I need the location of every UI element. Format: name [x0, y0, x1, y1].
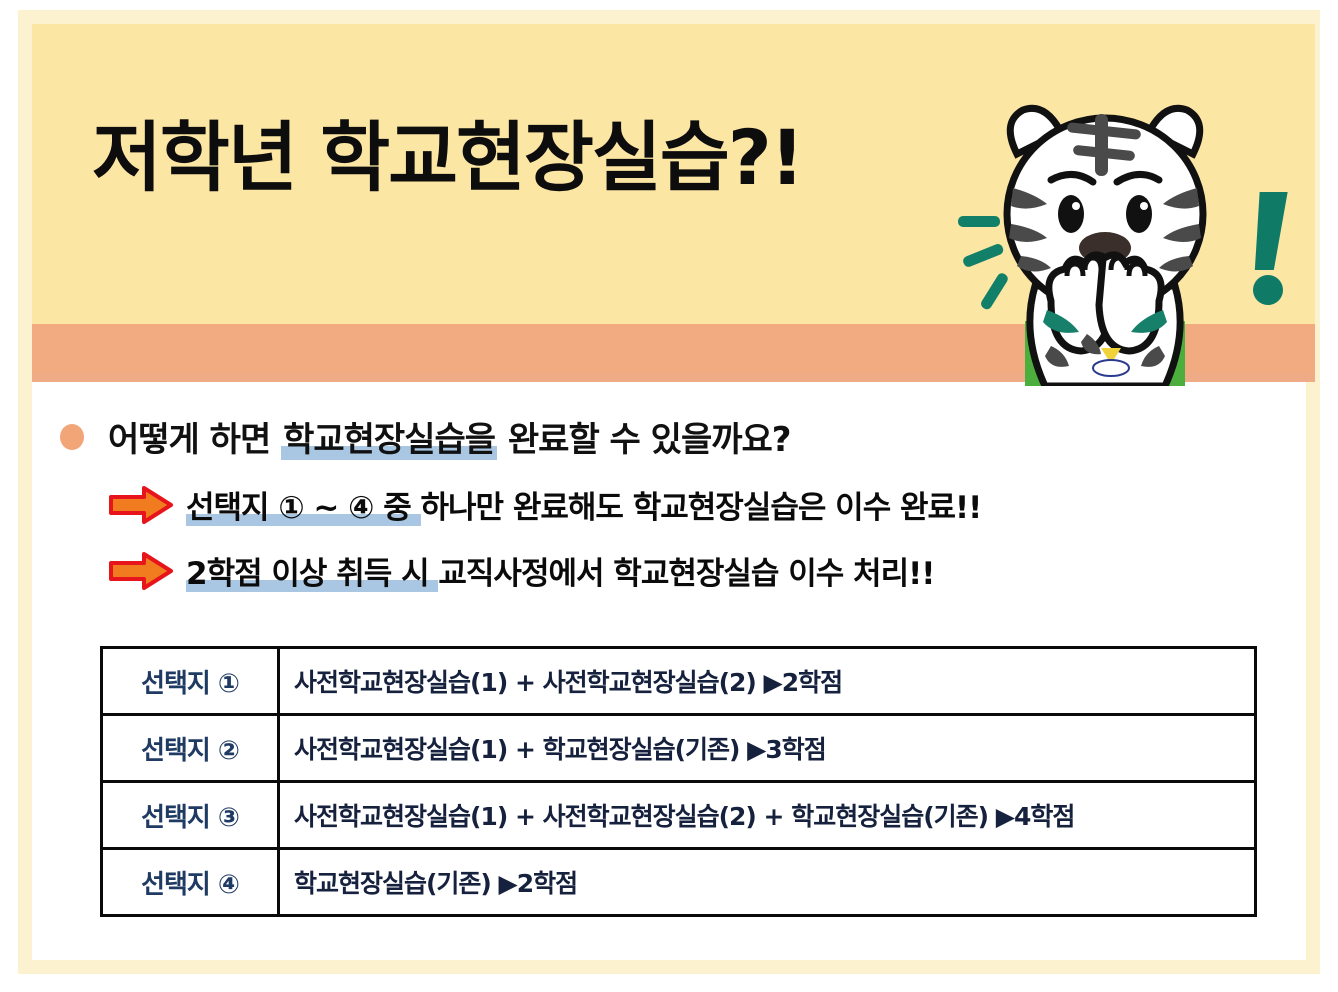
arrow-2-rest: 교직사정에서 학교현장실습 이수 처리!!	[438, 556, 934, 592]
right-arrow-icon	[108, 485, 174, 525]
question-after: 완료할 수 있을까요?	[497, 420, 790, 460]
arrow-1-highlight: 선택지 ① ~ ④ 중	[186, 490, 421, 526]
table-row: 선택지 ③ 사전학교현장실습(1) + 사전학교현장실습(2) + 학교현장실습…	[102, 782, 1256, 849]
option-label-1: 선택지 ①	[102, 648, 279, 715]
arrow-row-2: 2학점 이상 취득 시 교직사정에서 학교현장실습 이수 처리!!	[108, 548, 934, 593]
arrow-1-rest: 하나만 완료해도 학교현장실습은 이수 완료!!	[421, 490, 982, 526]
options-table: 선택지 ① 사전학교현장실습(1) + 사전학교현장실습(2) ▶2학점 선택지…	[100, 646, 1257, 917]
table-row: 선택지 ② 사전학교현장실습(1) + 학교현장실습(기존) ▶3학점	[102, 715, 1256, 782]
question-row: 어떻게 하면 학교현장실습을 완료할 수 있을까요?	[60, 412, 791, 461]
question-highlight: 학교현장실습을	[281, 420, 497, 460]
body-content: 어떻게 하면 학교현장실습을 완료할 수 있을까요? 선택지 ① ~ ④ 중 하…	[32, 390, 1315, 960]
arrow-row-1: 선택지 ① ~ ④ 중 하나만 완료해도 학교현장실습은 이수 완료!!	[108, 482, 981, 527]
table-row: 선택지 ④ 학교현장실습(기존) ▶2학점	[102, 849, 1256, 916]
right-arrow-icon	[108, 551, 174, 591]
exclamation-mark-icon	[1248, 188, 1300, 308]
arrow-text-1: 선택지 ① ~ ④ 중 하나만 완료해도 학교현장실습은 이수 완료!!	[186, 482, 981, 527]
arrow-2-highlight: 2학점 이상 취득 시	[186, 556, 438, 592]
page-title: 저학년 학교현장실습?!	[92, 120, 803, 196]
slide-root: 저학년 학교현장실습?!	[0, 0, 1338, 992]
white-tiger-mascot	[955, 96, 1255, 386]
option-label-4: 선택지 ④	[102, 849, 279, 916]
option-label-2: 선택지 ②	[102, 715, 279, 782]
option-desc-1: 사전학교현장실습(1) + 사전학교현장실습(2) ▶2학점	[279, 648, 1256, 715]
question-before: 어떻게 하면	[108, 420, 281, 460]
option-desc-3: 사전학교현장실습(1) + 사전학교현장실습(2) + 학교현장실습(기존) ▶…	[279, 782, 1256, 849]
table-row: 선택지 ① 사전학교현장실습(1) + 사전학교현장실습(2) ▶2학점	[102, 648, 1256, 715]
arrow-text-2: 2학점 이상 취득 시 교직사정에서 학교현장실습 이수 처리!!	[186, 548, 934, 593]
bullet-dot-icon	[60, 424, 84, 450]
option-desc-2: 사전학교현장실습(1) + 학교현장실습(기존) ▶3학점	[279, 715, 1256, 782]
option-desc-4: 학교현장실습(기존) ▶2학점	[279, 849, 1256, 916]
question-text: 어떻게 하면 학교현장실습을 완료할 수 있을까요?	[108, 412, 791, 461]
option-label-3: 선택지 ③	[102, 782, 279, 849]
